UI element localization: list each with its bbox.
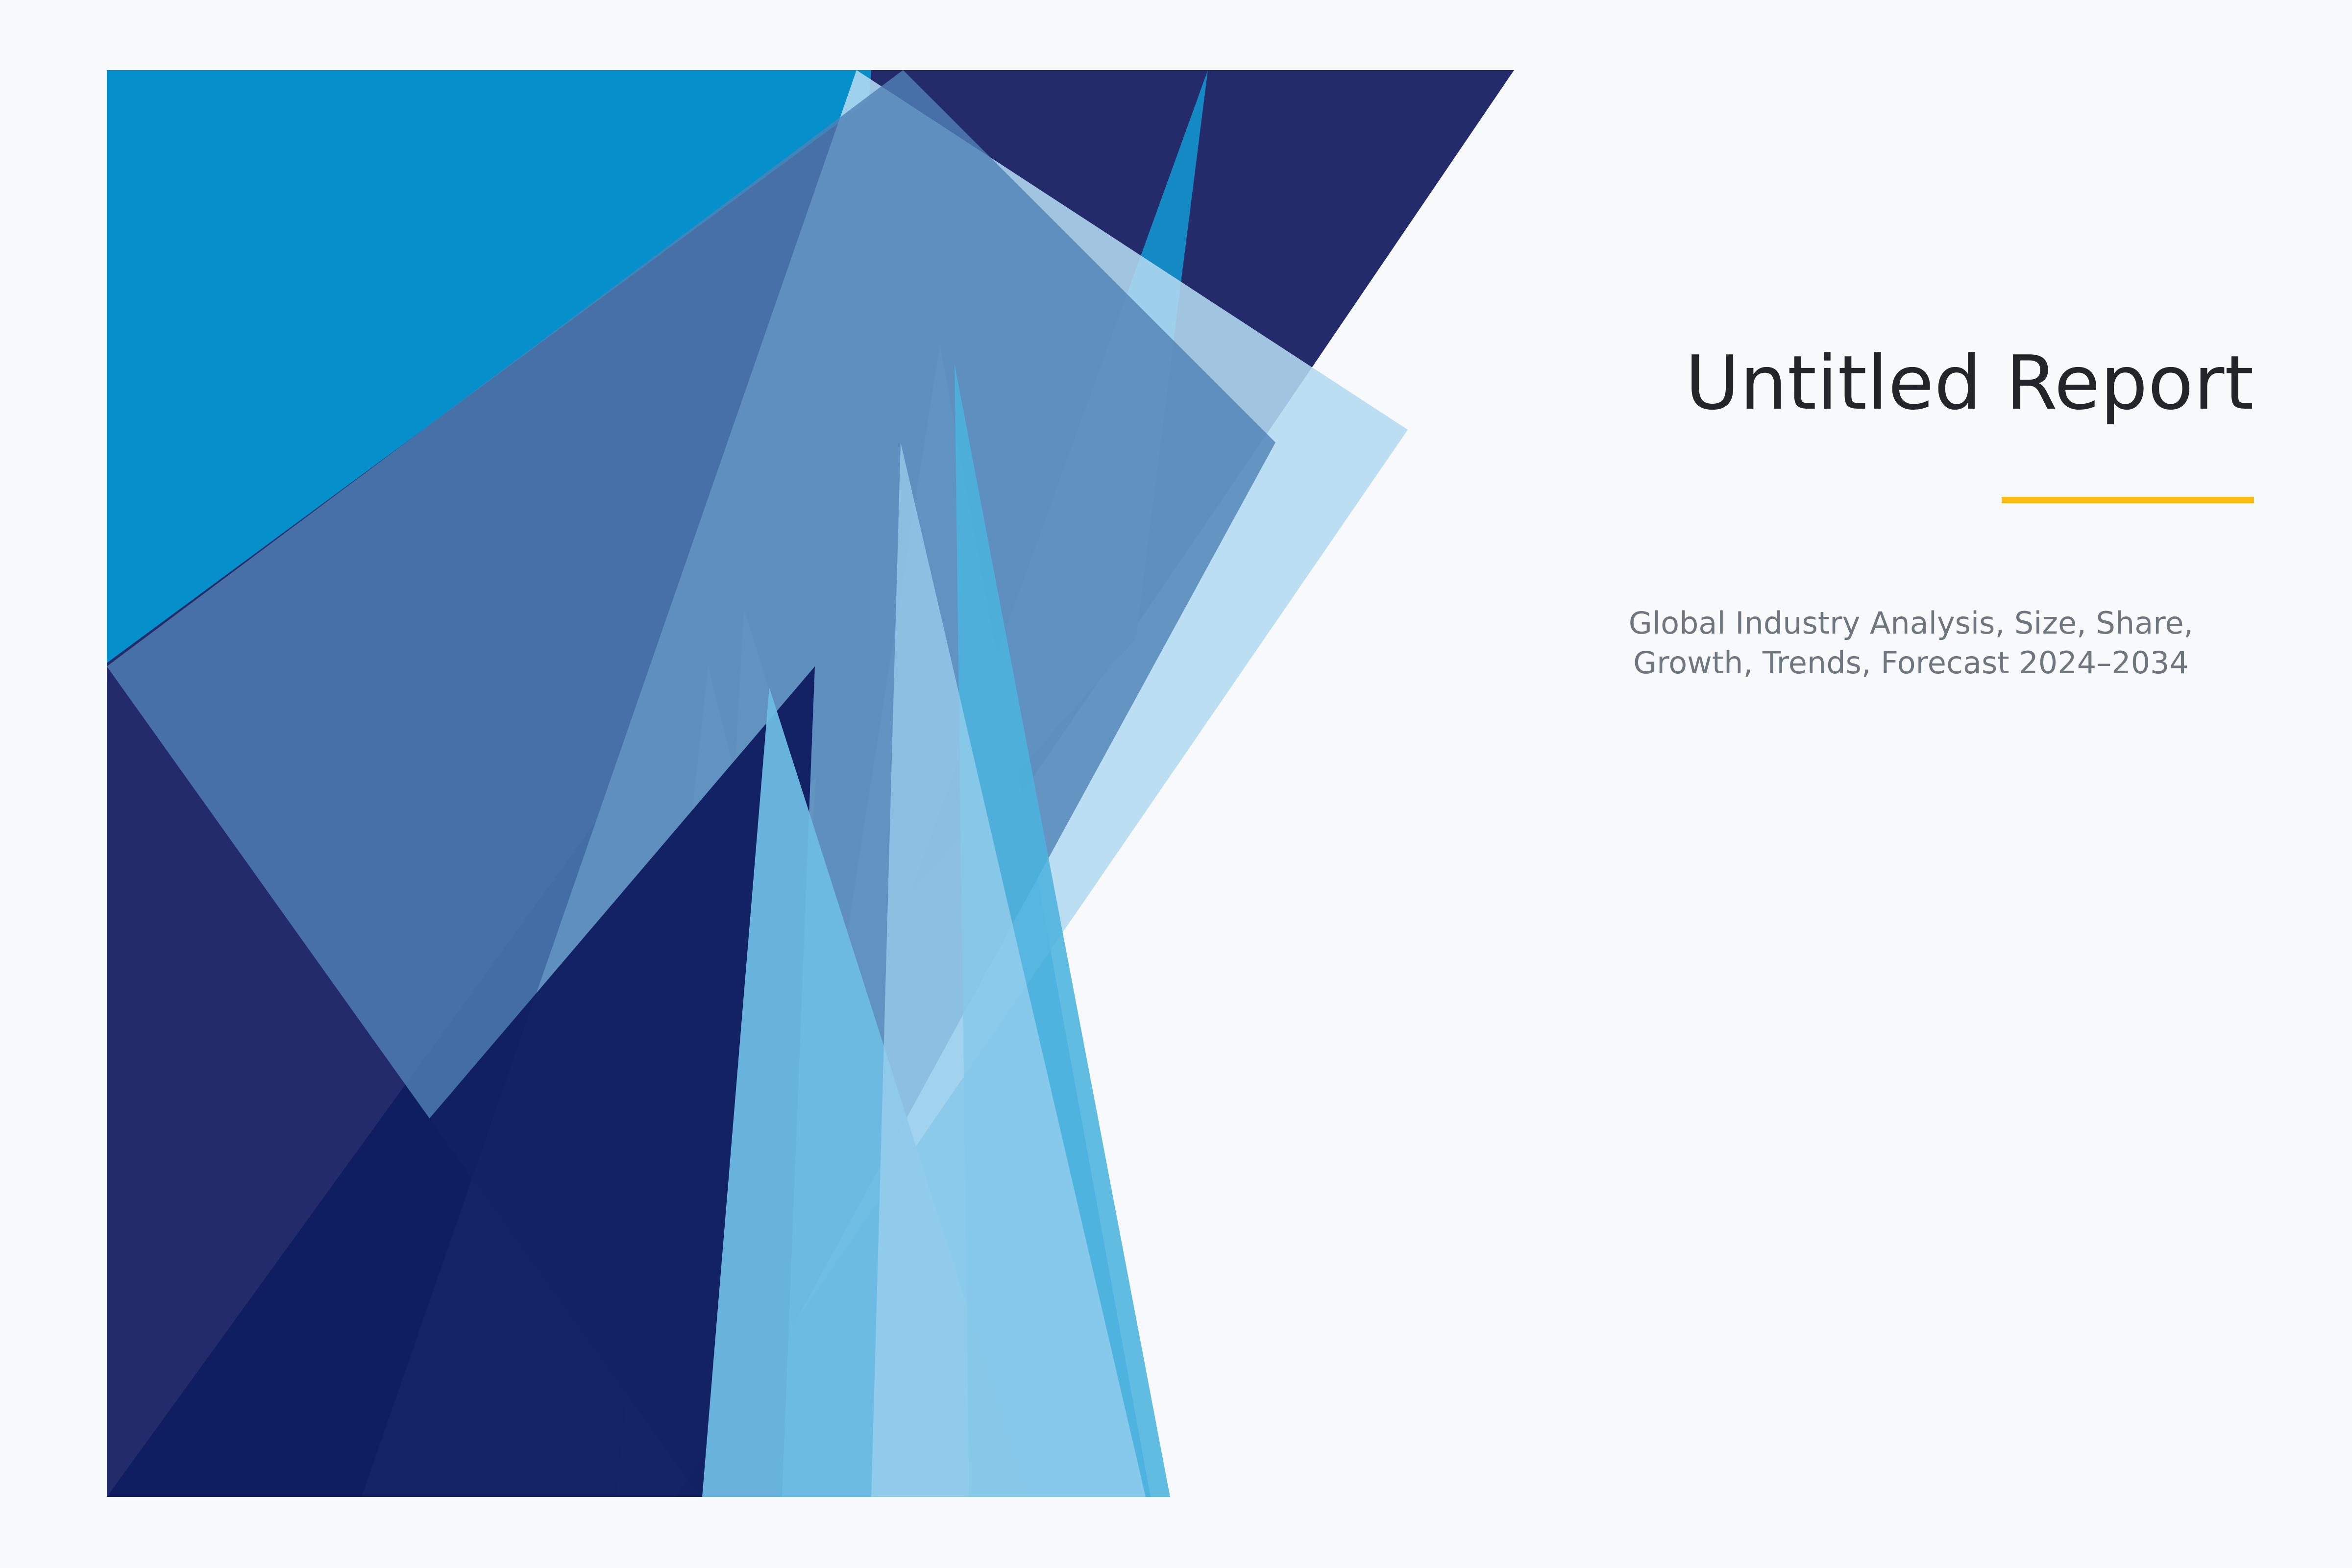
report-subtitle-line-2: Growth, Trends, Forecast 2024–2034 — [1633, 645, 2189, 681]
report-subtitle: Global Industry Analysis, Size, Share, G… — [1568, 604, 2254, 683]
report-subtitle-line-1: Global Industry Analysis, Size, Share, — [1629, 605, 2193, 641]
accent-rule — [2002, 497, 2254, 503]
cover-text-column: Untitled Report Global Industry Analysis… — [1568, 343, 2254, 683]
cover-artwork — [107, 70, 1514, 1497]
accent-rule-container — [1568, 497, 2254, 503]
report-title: Untitled Report — [1568, 343, 2254, 423]
abstract-geometric-artwork — [107, 70, 1514, 1497]
report-cover-page: Untitled Report Global Industry Analysis… — [0, 0, 2352, 1568]
